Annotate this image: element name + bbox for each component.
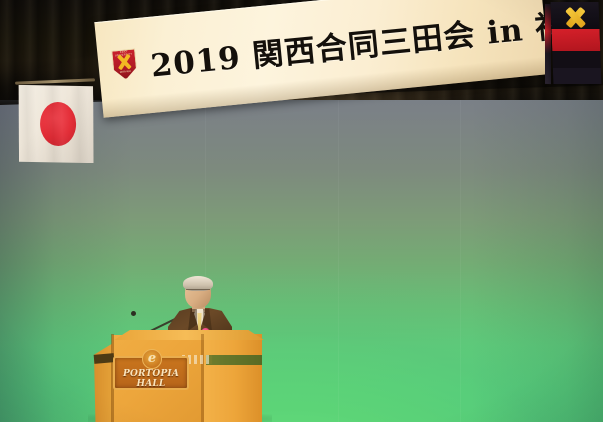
flag-rod	[15, 78, 95, 84]
keio-flag-band-bottom	[553, 68, 602, 84]
lectern-green-accent-band	[206, 355, 262, 365]
lectern-edge-right	[201, 334, 204, 422]
microphone-capsule-icon	[131, 311, 136, 316]
japan-flag	[17, 77, 95, 165]
speaker-glasses-icon	[186, 289, 210, 295]
lectern-plaque: e PORTOPIA HALL	[113, 356, 189, 390]
flag-fabric-folds	[17, 83, 95, 165]
keio-crest-icon: KEIO UNIVERSITY MITA-KAI	[111, 48, 138, 80]
keio-flag	[551, 2, 602, 84]
keio-pen-emblem-icon	[561, 6, 590, 28]
lectern: e PORTOPIA HALL	[94, 330, 266, 422]
stage-photo: KEIO UNIVERSITY MITA-KAI 2019 関西合同三田会 in…	[0, 0, 603, 422]
backdrop-seam	[338, 90, 339, 422]
keio-flag-band-black	[552, 51, 601, 68]
keio-flag-band-red	[551, 29, 600, 51]
lectern-dark-accent	[94, 353, 115, 364]
lectern-top-surface	[108, 330, 264, 340]
backdrop-seam	[460, 90, 461, 422]
lectern-plaque-text: PORTOPIA HALL	[115, 369, 187, 389]
lectern-right-panel	[202, 334, 262, 422]
portopia-logo-icon: e	[142, 349, 162, 369]
